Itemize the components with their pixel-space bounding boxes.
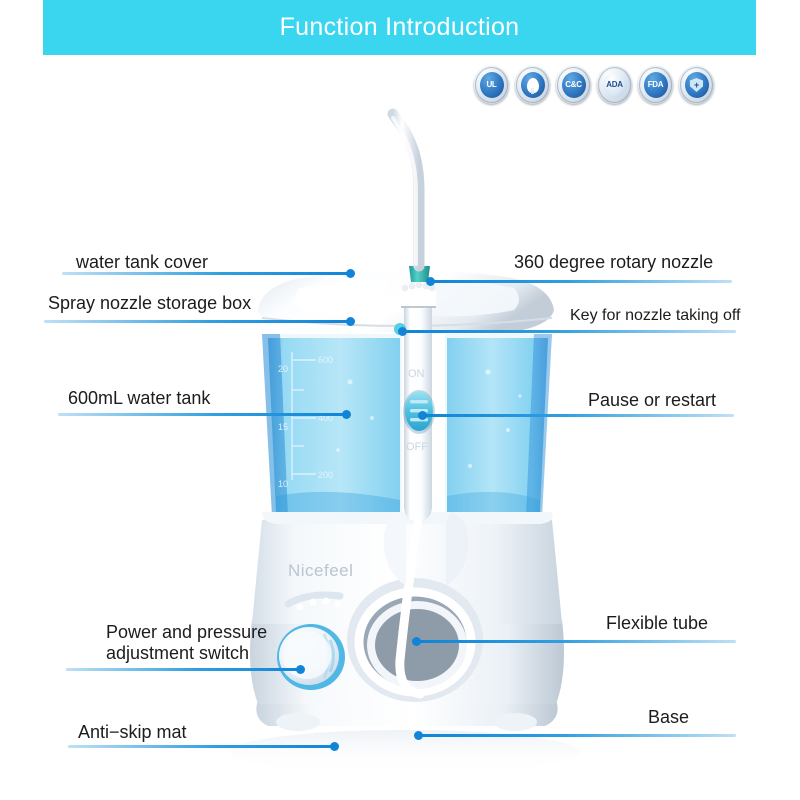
badge-ring bbox=[475, 67, 508, 103]
function-introduction-page: Function Introduction UL C&C ADA FDA bbox=[0, 0, 800, 800]
callout-label-spray-nozzle-storage-box: Spray nozzle storage box bbox=[48, 293, 251, 314]
svg-text:OFF: OFF bbox=[406, 441, 428, 453]
svg-text:10: 10 bbox=[278, 479, 288, 489]
callout-label-anti-skip-mat: Anti−skip mat bbox=[78, 722, 187, 743]
leader-line bbox=[62, 272, 352, 275]
leader-line bbox=[406, 330, 736, 333]
leader-line bbox=[58, 413, 348, 416]
leader-dot bbox=[330, 742, 339, 751]
svg-text:15: 15 bbox=[278, 422, 288, 432]
badge-ring bbox=[639, 67, 672, 103]
header-banner: Function Introduction bbox=[43, 0, 756, 55]
leader-line bbox=[420, 734, 736, 737]
medical-shield-certification-badge: + bbox=[679, 66, 714, 104]
leader-line bbox=[66, 668, 302, 671]
leader-dot bbox=[346, 269, 355, 278]
svg-text:200: 200 bbox=[318, 470, 333, 480]
callout-label-pause-or-restart: Pause or restart bbox=[588, 390, 716, 411]
tooth-certification-badge bbox=[515, 66, 550, 104]
leader-dot bbox=[346, 317, 355, 326]
leader-line bbox=[44, 320, 352, 323]
leader-dot bbox=[412, 637, 421, 646]
cqc-certification-badge: C&C bbox=[556, 66, 591, 104]
ul-certification-badge: UL bbox=[474, 66, 509, 104]
callout-label-360-rotary-nozzle: 360 degree rotary nozzle bbox=[514, 252, 713, 273]
svg-text:ON: ON bbox=[408, 368, 425, 380]
certification-badges: UL C&C ADA FDA + bbox=[474, 66, 714, 104]
callout-label-water-tank-cover: water tank cover bbox=[76, 252, 208, 273]
leader-dot bbox=[414, 731, 423, 740]
badge-ring bbox=[557, 67, 590, 103]
callout-label-base: Base bbox=[648, 707, 689, 728]
leader-line bbox=[424, 414, 734, 417]
leader-dot bbox=[418, 411, 427, 420]
leader-line bbox=[418, 640, 736, 643]
leader-dot bbox=[398, 327, 407, 336]
fda-certification-badge: FDA bbox=[638, 66, 673, 104]
callout-label-600ml-water-tank: 600mL water tank bbox=[68, 388, 210, 409]
leader-dot bbox=[426, 277, 435, 286]
badge-ring bbox=[598, 67, 631, 103]
callout-label-key-nozzle-taking-off: Key for nozzle taking off bbox=[570, 307, 740, 326]
svg-text:Nicefeel: Nicefeel bbox=[288, 561, 353, 580]
ada-certification-badge: ADA bbox=[597, 66, 632, 104]
callout-label-flexible-tube: Flexible tube bbox=[606, 613, 708, 634]
tooth-icon bbox=[527, 78, 539, 93]
svg-text:600: 600 bbox=[318, 355, 333, 365]
leader-dot bbox=[342, 410, 351, 419]
callout-label-power-pressure-switch: Power and pressure adjustment switch bbox=[106, 622, 306, 664]
leader-line bbox=[68, 745, 336, 748]
leader-line bbox=[430, 280, 732, 283]
leader-dot bbox=[296, 665, 305, 674]
page-title: Function Introduction bbox=[43, 0, 756, 55]
svg-text:20: 20 bbox=[278, 364, 288, 374]
